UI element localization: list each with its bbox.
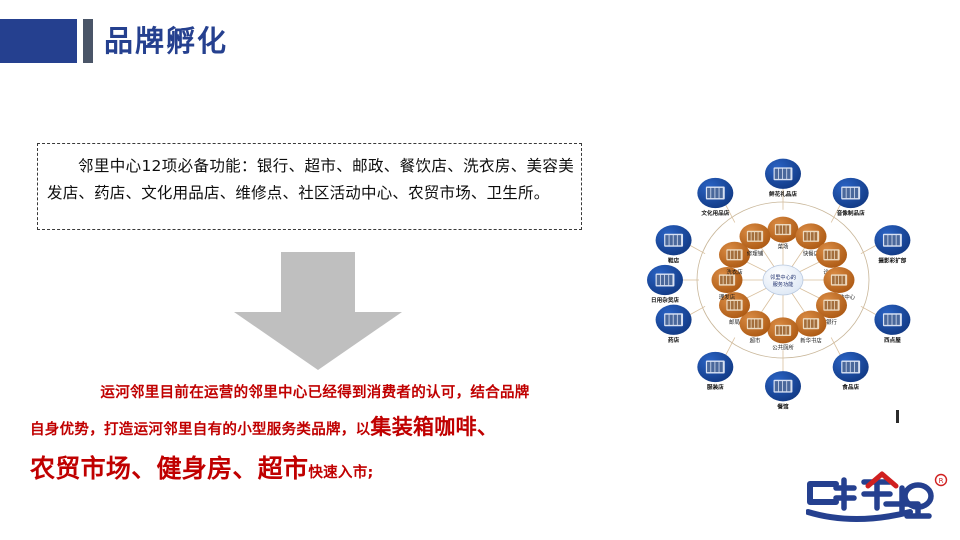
diagram-node[interactable]: 音像制品店 (833, 178, 869, 217)
diagram-node-label: 理发店 (719, 293, 736, 301)
header-accent-block (0, 19, 77, 63)
diagram-node-label: 摄影彩扩部 (878, 256, 906, 264)
diagram-node-label: 修理铺 (747, 249, 764, 257)
diagram-node[interactable]: 公共厕所 (768, 317, 799, 351)
note-box-text: 邻里中心12项必备功能：银行、超市、邮政、餐饮店、洗衣房、美容美发店、药店、文化… (47, 153, 574, 207)
diagram-node-label: 银行 (826, 318, 837, 326)
slide-root: 品牌孵化 邻里中心12项必备功能：银行、超市、邮政、餐饮店、洗衣房、美容美发店、… (0, 0, 960, 540)
diagram-node[interactable]: 新华书店 (796, 311, 827, 345)
diagram-node-label: 超市 (750, 337, 761, 345)
neighborhood-center-radial-diagram: 鲜花礼品店音像制品店摄影彩扩部西点屋食品店餐馆服装店药店日用杂货店鞋店文化用品店… (620, 150, 950, 435)
brand-logo: R (806, 468, 956, 526)
red-paragraph: 运河邻里目前在运营的邻里中心已经得到消费者的认可，结合品牌 自身优势，打造运河邻… (30, 378, 600, 493)
diagram-node[interactable]: 鲜花礼品店 (765, 159, 801, 198)
diagram-node[interactable]: 日用杂货店 (647, 265, 683, 304)
red-paragraph-line-2: 自身优势，打造运河邻里自有的小型服务类品牌，以集装箱咖啡、 (30, 408, 600, 449)
page-title: 品牌孵化 (104, 21, 228, 61)
red-line3-suffix: 快速入市; (308, 465, 373, 481)
diagram-node-label: 食品店 (841, 383, 859, 391)
stray-mark (896, 410, 899, 423)
diagram-node[interactable]: 文化用品店 (697, 178, 733, 217)
diagram-node-label: 文化用品店 (701, 209, 729, 217)
diagram-center-label-line1: 邻里中心的 (770, 273, 796, 281)
diagram-node[interactable]: 鞋店 (656, 225, 692, 264)
diagram-node-label: 药店 (668, 336, 680, 344)
diagram-node-label: 邮局 (729, 318, 740, 326)
diagram-node[interactable]: 西点屋 (874, 305, 910, 344)
diagram-node[interactable]: 餐馆 (765, 371, 801, 410)
red-paragraph-line-1: 运河邻里目前在运营的邻里中心已经得到消费者的认可，结合品牌 (30, 378, 600, 408)
diagram-center-node: 邻里中心的服务功能 (763, 265, 803, 295)
diagram-node-label: 西点屋 (884, 336, 901, 344)
header-accent-tick (83, 19, 93, 63)
diagram-node-label: 鲜花礼品店 (768, 190, 797, 198)
diagram-node-label: 鞋店 (668, 256, 680, 264)
diagram-node-label: 服装店 (707, 383, 724, 391)
diagram-node[interactable]: 菜场 (768, 217, 799, 251)
svg-text:R: R (939, 477, 944, 485)
diagram-node-label: 菜场 (778, 243, 789, 251)
diagram-node-label: 日用杂货店 (651, 296, 679, 304)
down-arrow-icon (228, 252, 408, 372)
diagram-node[interactable]: 超市 (740, 311, 771, 345)
note-box: 邻里中心12项必备功能：银行、超市、邮政、餐饮店、洗衣房、美容美发店、药店、文化… (37, 143, 582, 230)
diagram-node-label: 公共厕所 (772, 343, 794, 351)
diagram-node-label: 餐馆 (776, 402, 789, 410)
diagram-node[interactable]: 摄影彩扩部 (874, 225, 910, 264)
diagram-node-label: 音像制品店 (837, 209, 865, 217)
red-line2-prefix: 自身优势，打造运河邻里自有的小型服务类品牌，以 (30, 422, 370, 438)
diagram-node[interactable]: 药店 (656, 305, 692, 344)
diagram-center-label-line2: 服务功能 (773, 280, 794, 288)
red-paragraph-line-3: 农贸市场、健身房、超市快速入市; (30, 449, 600, 493)
diagram-node-label: 新华书店 (800, 337, 822, 345)
diagram-node[interactable]: 服装店 (697, 352, 733, 391)
diagram-node-label: 洗衣店 (726, 268, 743, 276)
red-line3-emphasis: 农贸市场、健身房、超市 (30, 454, 308, 483)
diagram-node[interactable]: 食品店 (833, 352, 869, 391)
red-line2-emphasis: 集装箱咖啡、 (370, 415, 498, 439)
